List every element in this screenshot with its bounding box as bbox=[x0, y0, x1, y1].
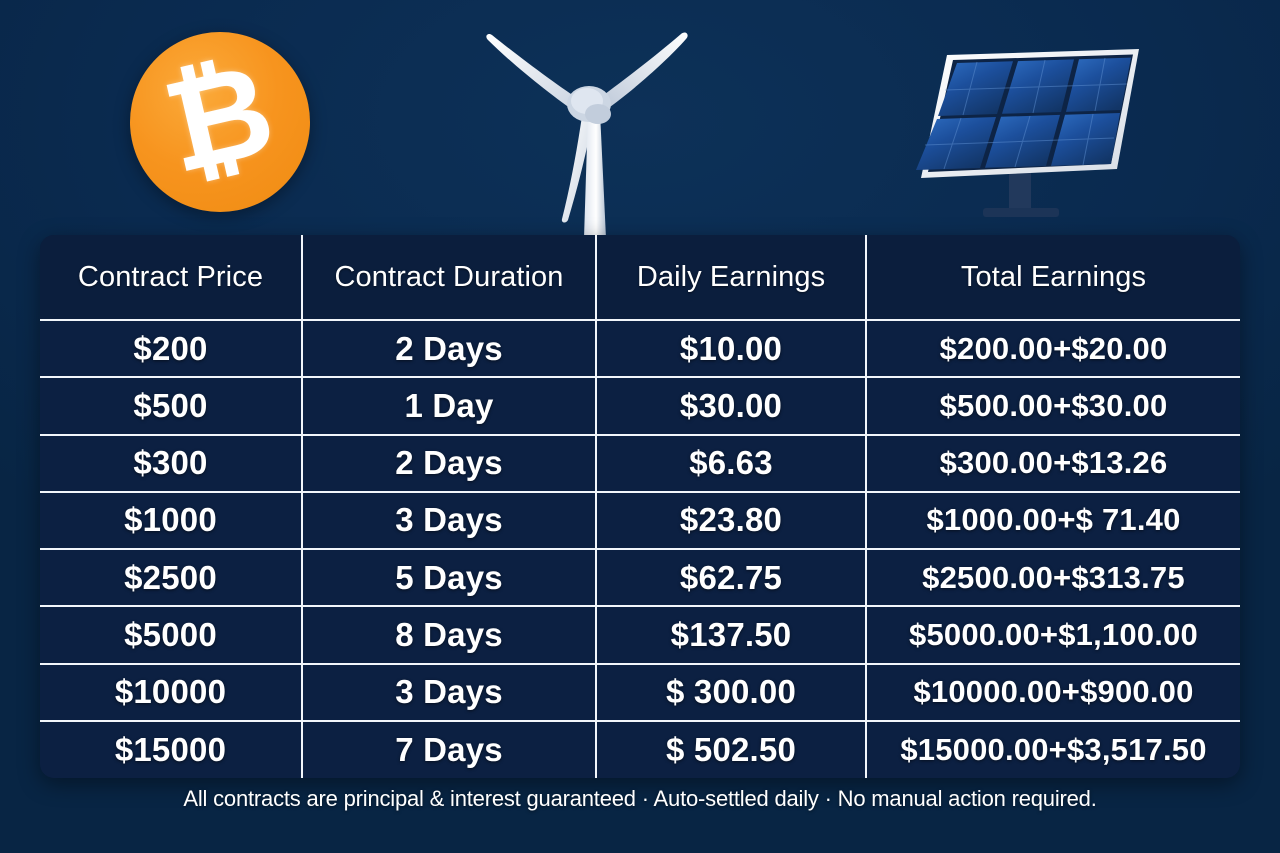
hero-icon-strip: ₿ bbox=[0, 0, 1280, 235]
cell-contract-price: $5000 bbox=[40, 606, 302, 663]
disclaimer-footnote: All contracts are principal & interest g… bbox=[0, 786, 1280, 812]
table-row[interactable]: $1000 3 Days $23.80 $1000.00+$ 71.40 bbox=[40, 492, 1240, 549]
cell-contract-price: $200 bbox=[40, 320, 302, 377]
cell-total-earnings: $500.00+$30.00 bbox=[866, 377, 1240, 434]
table-row[interactable]: $5000 8 Days $137.50 $5000.00+$1,100.00 bbox=[40, 606, 1240, 663]
cell-contract-price: $15000 bbox=[40, 721, 302, 778]
cell-contract-duration: 3 Days bbox=[302, 492, 596, 549]
cell-total-earnings: $2500.00+$313.75 bbox=[866, 549, 1240, 606]
cell-contract-duration: 7 Days bbox=[302, 721, 596, 778]
cell-daily-earnings: $ 300.00 bbox=[596, 664, 866, 721]
table-row[interactable]: $500 1 Day $30.00 $500.00+$30.00 bbox=[40, 377, 1240, 434]
earnings-table-card: Contract Price Contract Duration Daily E… bbox=[40, 235, 1240, 778]
table-row[interactable]: $200 2 Days $10.00 $200.00+$20.00 bbox=[40, 320, 1240, 377]
cell-total-earnings: $300.00+$13.26 bbox=[866, 435, 1240, 492]
column-header-contract-duration: Contract Duration bbox=[302, 235, 596, 320]
table-body: $200 2 Days $10.00 $200.00+$20.00 $500 1… bbox=[40, 320, 1240, 778]
column-header-daily-earnings: Daily Earnings bbox=[596, 235, 866, 320]
wind-turbine-graphic bbox=[478, 20, 708, 238]
cell-total-earnings: $1000.00+$ 71.40 bbox=[866, 492, 1240, 549]
table-row[interactable]: $10000 3 Days $ 300.00 $10000.00+$900.00 bbox=[40, 664, 1240, 721]
column-header-total-earnings: Total Earnings bbox=[866, 235, 1240, 320]
cell-contract-duration: 8 Days bbox=[302, 606, 596, 663]
cell-total-earnings: $15000.00+$3,517.50 bbox=[866, 721, 1240, 778]
cell-daily-earnings: $30.00 bbox=[596, 377, 866, 434]
cell-contract-price: $500 bbox=[40, 377, 302, 434]
cell-daily-earnings: $137.50 bbox=[596, 606, 866, 663]
table-header: Contract Price Contract Duration Daily E… bbox=[40, 235, 1240, 320]
cell-contract-duration: 3 Days bbox=[302, 664, 596, 721]
table-row[interactable]: $15000 7 Days $ 502.50 $15000.00+$3,517.… bbox=[40, 721, 1240, 778]
cell-contract-price: $10000 bbox=[40, 664, 302, 721]
table-header-row: Contract Price Contract Duration Daily E… bbox=[40, 235, 1240, 320]
wind-turbine-icon bbox=[478, 20, 708, 238]
table-row[interactable]: $2500 5 Days $62.75 $2500.00+$313.75 bbox=[40, 549, 1240, 606]
bitcoin-symbol-glyph: ₿ bbox=[112, 14, 328, 230]
cell-contract-duration: 1 Day bbox=[302, 377, 596, 434]
cell-daily-earnings: $62.75 bbox=[596, 549, 866, 606]
column-header-contract-price: Contract Price bbox=[40, 235, 302, 320]
cell-total-earnings: $5000.00+$1,100.00 bbox=[866, 606, 1240, 663]
cell-total-earnings: $200.00+$20.00 bbox=[866, 320, 1240, 377]
cell-daily-earnings: $23.80 bbox=[596, 492, 866, 549]
cell-total-earnings: $10000.00+$900.00 bbox=[866, 664, 1240, 721]
solar-panel-icon bbox=[895, 45, 1150, 230]
cell-daily-earnings: $10.00 bbox=[596, 320, 866, 377]
cell-contract-duration: 5 Days bbox=[302, 549, 596, 606]
cell-contract-price: $1000 bbox=[40, 492, 302, 549]
bitcoin-icon: ₿ bbox=[130, 32, 310, 212]
bitcoin-coin-circle: ₿ bbox=[130, 32, 310, 212]
cell-contract-duration: 2 Days bbox=[302, 320, 596, 377]
contract-earnings-table: Contract Price Contract Duration Daily E… bbox=[40, 235, 1240, 778]
cell-daily-earnings: $6.63 bbox=[596, 435, 866, 492]
solar-panel-graphic bbox=[895, 45, 1150, 230]
cell-contract-price: $2500 bbox=[40, 549, 302, 606]
cell-contract-duration: 2 Days bbox=[302, 435, 596, 492]
table-row[interactable]: $300 2 Days $6.63 $300.00+$13.26 bbox=[40, 435, 1240, 492]
cell-daily-earnings: $ 502.50 bbox=[596, 721, 866, 778]
cell-contract-price: $300 bbox=[40, 435, 302, 492]
